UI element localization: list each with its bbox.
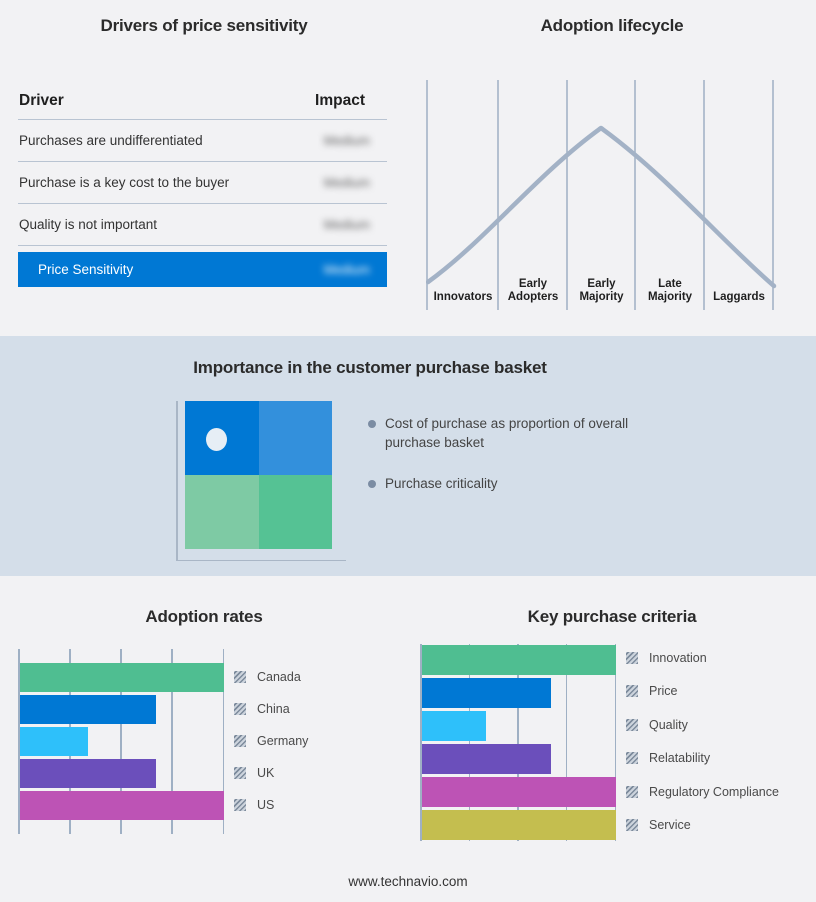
bar-row — [422, 710, 617, 743]
column-header-impact: Impact — [315, 92, 387, 110]
legend-item: Regulatory Compliance — [626, 785, 779, 799]
impact-value-blurred: Medium — [324, 217, 387, 232]
infographic-page: Drivers of price sensitivity Driver Impa… — [0, 0, 816, 902]
lifecycle-stage-early-majority: Early Majority — [567, 278, 636, 304]
panel-adoption-lifecycle: Adoption lifecycle Innovators Early Adop… — [408, 0, 816, 336]
footer-url: www.technavio.com — [0, 874, 816, 889]
legend-item: Service — [626, 818, 691, 832]
drivers-table-header: Driver Impact — [18, 92, 387, 120]
hatch-swatch-icon — [626, 652, 638, 664]
panel-drivers-of-price-sensitivity: Drivers of price sensitivity Driver Impa… — [0, 0, 408, 336]
bar-row — [422, 808, 617, 841]
hatch-swatch-icon — [626, 719, 638, 731]
lifecycle-stage-early-adopters: Early Adopters — [498, 278, 568, 304]
matrix-quadrant-top-right — [259, 401, 333, 475]
bullet-dot-icon — [368, 480, 376, 488]
bar-row — [20, 694, 225, 726]
bar — [422, 711, 487, 741]
legend-item-label: Regulatory Compliance — [649, 785, 779, 799]
bar — [20, 791, 225, 820]
basket-legend: Cost of purchase as proportion of overal… — [368, 414, 668, 515]
bar-row — [422, 775, 617, 808]
hatch-swatch-icon — [234, 671, 246, 683]
bar-stack — [422, 644, 617, 841]
bar — [20, 695, 156, 724]
bar — [20, 759, 156, 788]
panel-key-purchase-criteria: Key purchase criteria InnovationPriceQua… — [408, 576, 816, 902]
bar-row — [20, 758, 225, 790]
impact-value-blurred: Medium — [324, 133, 387, 148]
legend-item: Purchase criticality — [368, 474, 668, 493]
legend-item-label: Cost of purchase as proportion of overal… — [385, 414, 635, 452]
legend-item-label: Quality — [649, 718, 688, 732]
bullet-dot-icon — [368, 420, 376, 428]
bar — [422, 678, 552, 708]
bar-stack — [20, 649, 225, 834]
matrix-quadrant-bottom-left — [185, 475, 259, 549]
legend-item-label: Canada — [257, 670, 301, 684]
table-row: Quality is not important Medium — [18, 204, 387, 246]
bar-row — [20, 726, 225, 758]
bar-row — [20, 662, 225, 694]
legend-item: Price — [626, 684, 677, 698]
adoption-rates-bar-plot — [18, 649, 224, 834]
summary-label: Price Sensitivity — [18, 262, 133, 277]
matrix-quadrants — [185, 401, 332, 549]
legend-item-label: Innovation — [649, 651, 707, 665]
bar-row — [422, 644, 617, 677]
table-row: Purchases are undifferentiated Medium — [18, 120, 387, 162]
purchase-basket-matrix — [176, 401, 346, 561]
key-purchase-criteria-bar-plot — [420, 644, 616, 841]
legend-item-label: UK — [257, 766, 274, 780]
lifecycle-stage-labels: Innovators Early Adopters Early Majority… — [426, 268, 801, 310]
bar — [20, 727, 88, 756]
legend-item: Germany — [234, 734, 308, 748]
table-row: Purchase is a key cost to the buyer Medi… — [18, 162, 387, 204]
legend-item-label: China — [257, 702, 290, 716]
driver-label: Purchase is a key cost to the buyer — [18, 175, 229, 190]
bar — [422, 645, 617, 675]
bar — [422, 810, 617, 840]
lifecycle-panel-title: Adoption lifecycle — [408, 16, 816, 36]
column-header-driver: Driver — [18, 92, 64, 110]
matrix-x-axis — [176, 560, 346, 562]
lifecycle-stage-innovators: Innovators — [424, 291, 502, 304]
legend-item-label: Price — [649, 684, 677, 698]
hatch-swatch-icon — [626, 819, 638, 831]
key-purchase-criteria-title: Key purchase criteria — [408, 607, 816, 627]
legend-item: US — [234, 798, 274, 812]
legend-item-label: Relatability — [649, 751, 710, 765]
panel-purchase-basket-importance: Importance in the customer purchase bask… — [0, 336, 816, 576]
adoption-bell-curve — [428, 128, 774, 286]
drivers-table: Driver Impact Purchases are undifferenti… — [18, 92, 387, 287]
legend-item-label: Germany — [257, 734, 308, 748]
legend-item: Innovation — [626, 651, 707, 665]
price-sensitivity-summary-row: Price Sensitivity Medium — [18, 252, 387, 287]
hatch-swatch-icon — [626, 752, 638, 764]
hatch-swatch-icon — [626, 786, 638, 798]
legend-item: Relatability — [626, 751, 710, 765]
legend-item: UK — [234, 766, 274, 780]
hatch-swatch-icon — [626, 685, 638, 697]
legend-item: Canada — [234, 670, 301, 684]
hatch-swatch-icon — [234, 703, 246, 715]
panel-adoption-rates: Adoption rates CanadaChinaGermanyUKUS — [0, 576, 408, 902]
adoption-rates-legend: CanadaChinaGermanyUKUS — [234, 649, 394, 834]
legend-item: China — [234, 702, 290, 716]
bar — [422, 744, 552, 774]
legend-item: Quality — [626, 718, 688, 732]
drivers-panel-title: Drivers of price sensitivity — [0, 16, 408, 36]
key-purchase-criteria-legend: InnovationPriceQualityRelatabilityRegula… — [626, 644, 816, 841]
driver-label: Quality is not important — [18, 217, 157, 232]
summary-impact-value-blurred: Medium — [324, 262, 387, 277]
matrix-quadrant-top-left — [185, 401, 259, 475]
legend-item: Cost of purchase as proportion of overal… — [368, 414, 668, 452]
bar-row — [422, 677, 617, 710]
basket-panel-title: Importance in the customer purchase bask… — [0, 358, 740, 378]
legend-item-label: Service — [649, 818, 691, 832]
driver-label: Purchases are undifferentiated — [18, 133, 203, 148]
legend-item-label: Purchase criticality — [385, 474, 498, 493]
bar-row — [422, 743, 617, 776]
lifecycle-stage-laggards: Laggards — [704, 291, 774, 304]
bar — [422, 777, 617, 807]
hatch-swatch-icon — [234, 735, 246, 747]
legend-item-label: US — [257, 798, 274, 812]
impact-value-blurred: Medium — [324, 175, 387, 190]
hatch-swatch-icon — [234, 799, 246, 811]
matrix-y-axis — [176, 401, 178, 561]
matrix-position-marker — [206, 428, 227, 451]
matrix-quadrant-bottom-right — [259, 475, 333, 549]
adoption-rates-title: Adoption rates — [0, 607, 408, 627]
lifecycle-stage-late-majority: Late Majority — [635, 278, 705, 304]
bar — [20, 663, 225, 692]
hatch-swatch-icon — [234, 767, 246, 779]
bar-row — [20, 790, 225, 822]
